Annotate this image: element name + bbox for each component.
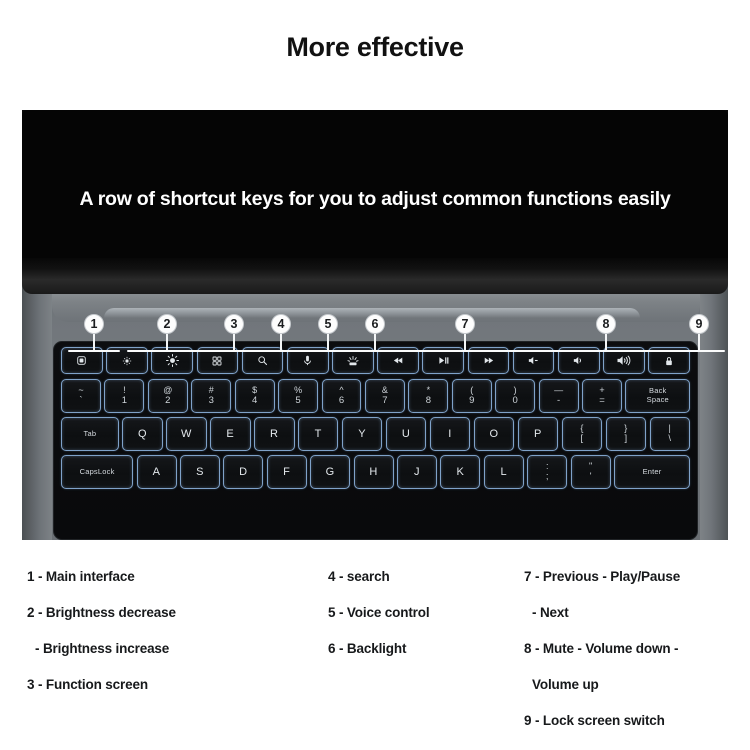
key-label: S: [196, 466, 204, 478]
hinge-bar: [22, 268, 728, 294]
search-icon: [256, 354, 269, 367]
legend-item: - Next: [524, 602, 746, 638]
key-label: R: [270, 428, 278, 440]
brightness-up-key[interactable]: [151, 347, 193, 374]
key-shift-glyph: *: [427, 386, 431, 395]
key-base-glyph: ': [590, 472, 592, 482]
key-base-glyph: 3: [209, 396, 214, 406]
volume-up-icon: [616, 353, 631, 368]
legend-item: 8 - Mute - Volume down -: [524, 638, 746, 674]
key-shift-glyph: $: [252, 386, 257, 395]
brightness-down-key[interactable]: [106, 347, 148, 374]
rewind-icon: [392, 354, 405, 367]
key-base-glyph: 4: [252, 396, 257, 406]
legend-item: 4 - search: [328, 566, 523, 602]
key-base-glyph: `: [79, 396, 82, 406]
function-key-row: [58, 347, 693, 374]
key-1[interactable]: !1: [104, 379, 144, 413]
key-label: E: [226, 428, 234, 440]
key-s[interactable]: S: [180, 455, 220, 489]
product-photo: A row of shortcut keys for you to adjust…: [22, 110, 728, 540]
previous-track-key[interactable]: [377, 347, 419, 374]
mute-key[interactable]: [513, 347, 555, 374]
key-shift-glyph: {: [580, 424, 583, 433]
tablet-screen: A row of shortcut keys for you to adjust…: [22, 110, 728, 280]
function-screen-key[interactable]: [197, 347, 239, 374]
key-0[interactable]: )0: [495, 379, 535, 413]
number-key-row: ~`!1@2#3$4%5^6&7*8(9)0—-+=BackSpace: [58, 379, 693, 413]
volume-down-icon: [572, 354, 585, 367]
key-shift-glyph: %: [294, 386, 302, 395]
page-title: More effective: [0, 32, 750, 63]
key-shift-glyph: @: [163, 386, 172, 395]
key-r[interactable]: R: [254, 417, 294, 451]
key-base-glyph: 0: [513, 396, 518, 406]
key-q[interactable]: Q: [122, 417, 162, 451]
deck-edge-left: [22, 282, 52, 540]
key-shift-glyph: ^: [339, 386, 343, 395]
key-d[interactable]: D: [223, 455, 263, 489]
key-label: BackSpace: [645, 387, 671, 404]
key-base-glyph: 9: [469, 396, 474, 406]
key-k[interactable]: K: [440, 455, 480, 489]
key-9[interactable]: (9: [452, 379, 492, 413]
key-base-glyph: 5: [295, 396, 300, 406]
play-pause-key[interactable]: [422, 347, 464, 374]
key-2[interactable]: @2: [148, 379, 188, 413]
deck-edge-right: [700, 282, 728, 540]
backspace-key[interactable]: BackSpace: [625, 379, 690, 413]
key-base-glyph: -: [557, 396, 560, 406]
key-label: Y: [358, 428, 366, 440]
key-f[interactable]: F: [267, 455, 307, 489]
key-u[interactable]: U: [386, 417, 426, 451]
key-base-glyph: [: [581, 434, 584, 444]
volume-down-key[interactable]: [558, 347, 600, 374]
key-label: Tab: [82, 430, 99, 439]
key-backtick[interactable]: ~`: [61, 379, 101, 413]
banner-headline: A row of shortcut keys for you to adjust…: [22, 188, 728, 211]
key-j[interactable]: J: [397, 455, 437, 489]
key-label: L: [501, 466, 508, 478]
key-base-glyph: 2: [165, 396, 170, 406]
key-label: Enter: [641, 468, 664, 477]
key-base-glyph: 7: [382, 396, 387, 406]
key-label: J: [414, 466, 420, 478]
key-shift-glyph: |: [669, 424, 671, 433]
keyboard-deck: ~`!1@2#3$4%5^6&7*8(9)0—-+=BackSpace TabQ…: [22, 282, 728, 540]
keyboard-backlight-icon: [346, 354, 360, 368]
key-shift-glyph: }: [624, 424, 627, 433]
key-w[interactable]: W: [166, 417, 206, 451]
key-e[interactable]: E: [210, 417, 250, 451]
key-label: O: [489, 428, 498, 440]
key-label: CapsLock: [78, 468, 117, 477]
key-punctuation[interactable]: "': [571, 455, 611, 489]
brightness-up-icon: [165, 353, 180, 368]
key-shift-glyph: —: [554, 386, 563, 395]
key-4[interactable]: $4: [235, 379, 275, 413]
function-grid-icon: [211, 355, 223, 367]
qwerty-key-row: TabQWERTYUIOP{[}]|\: [58, 417, 693, 451]
legend-item: 6 - Backlight: [328, 638, 523, 674]
key-7[interactable]: &7: [365, 379, 405, 413]
key-shift-glyph: !: [123, 386, 126, 395]
enter-key[interactable]: Enter: [614, 455, 690, 489]
key-label: T: [315, 428, 322, 440]
key-p[interactable]: P: [518, 417, 558, 451]
key-label: W: [181, 428, 192, 440]
key-label: G: [326, 466, 335, 478]
key-base-glyph: ;: [546, 472, 549, 482]
lock-icon: [663, 355, 675, 367]
brightness-down-icon: [121, 355, 133, 367]
key-l[interactable]: L: [484, 455, 524, 489]
key-6[interactable]: ^6: [322, 379, 362, 413]
key-3[interactable]: #3: [191, 379, 231, 413]
legend-item: 1 - Main interface: [27, 566, 317, 602]
key-shift-glyph: #: [209, 386, 214, 395]
key-a[interactable]: A: [137, 455, 177, 489]
key-shift-glyph: (: [470, 386, 473, 395]
key-label: F: [283, 466, 290, 478]
key-plate: ~`!1@2#3$4%5^6&7*8(9)0—-+=BackSpace TabQ…: [53, 341, 698, 540]
key-shift-glyph: &: [382, 386, 388, 395]
tab-key[interactable]: Tab: [61, 417, 119, 451]
key-base-glyph: 1: [122, 396, 127, 406]
voice-control-key[interactable]: [287, 347, 329, 374]
key-label: K: [457, 466, 465, 478]
forward-icon: [482, 354, 495, 367]
key-shift-glyph: ": [589, 462, 592, 471]
legend: 1 - Main interface2 - Brightness decreas…: [0, 566, 750, 746]
key-5[interactable]: %5: [278, 379, 318, 413]
key-bracket[interactable]: }]: [606, 417, 646, 451]
home-key-row: CapsLockASDFGHJKL:;"'Enter: [58, 455, 693, 489]
home-square-icon: [75, 354, 88, 367]
key-base-glyph: 6: [339, 396, 344, 406]
key-h[interactable]: H: [354, 455, 394, 489]
key-label: P: [534, 428, 542, 440]
legend-column-1: 1 - Main interface2 - Brightness decreas…: [27, 566, 317, 710]
capslock-key[interactable]: CapsLock: [61, 455, 133, 489]
key-label: U: [402, 428, 410, 440]
key-8[interactable]: *8: [408, 379, 448, 413]
legend-item: Volume up: [524, 674, 746, 710]
volume-up-key[interactable]: [603, 347, 645, 374]
key-label: H: [369, 466, 377, 478]
key-base-glyph: \: [668, 434, 671, 444]
key-label: I: [448, 428, 452, 440]
legend-item: - Brightness increase: [27, 638, 317, 674]
key-label: Q: [138, 428, 147, 440]
backlight-key[interactable]: [332, 347, 374, 374]
deck-highlight: [104, 308, 640, 318]
home-square-key[interactable]: [61, 347, 103, 374]
key-shift-glyph: :: [546, 462, 549, 471]
key-y[interactable]: Y: [342, 417, 382, 451]
microphone-icon: [301, 354, 314, 367]
legend-item: 2 - Brightness decrease: [27, 602, 317, 638]
mute-icon: [527, 354, 540, 367]
key-base-glyph: =: [599, 396, 605, 406]
legend-item: 9 - Lock screen switch: [524, 710, 746, 746]
play-pause-icon: [437, 354, 450, 367]
key-label: D: [239, 466, 247, 478]
search-key[interactable]: [242, 347, 284, 374]
key-base-glyph: 8: [426, 396, 431, 406]
legend-column-2: 4 - search5 - Voice control6 - Backlight: [328, 566, 523, 674]
legend-item: 7 - Previous - Play/Pause: [524, 566, 746, 602]
legend-column-3: 7 - Previous - Play/Pause- Next8 - Mute …: [524, 566, 746, 746]
key-shift-glyph: +: [599, 386, 604, 395]
key-bracket[interactable]: {[: [562, 417, 602, 451]
key-bracket[interactable]: |\: [650, 417, 690, 451]
key-i[interactable]: I: [430, 417, 470, 451]
next-track-key[interactable]: [468, 347, 510, 374]
key-o[interactable]: O: [474, 417, 514, 451]
key-punctuation[interactable]: :;: [527, 455, 567, 489]
legend-item: 5 - Voice control: [328, 602, 523, 638]
legend-item: 3 - Function screen: [27, 674, 317, 710]
key-label: A: [153, 466, 161, 478]
key-=[interactable]: +=: [582, 379, 622, 413]
key-t[interactable]: T: [298, 417, 338, 451]
key-base-glyph: ]: [624, 434, 627, 444]
key-g[interactable]: G: [310, 455, 350, 489]
key-shift-glyph: ~: [78, 386, 83, 395]
key--[interactable]: —-: [539, 379, 579, 413]
key-shift-glyph: ): [514, 386, 517, 395]
lock-screen-key[interactable]: [648, 347, 690, 374]
